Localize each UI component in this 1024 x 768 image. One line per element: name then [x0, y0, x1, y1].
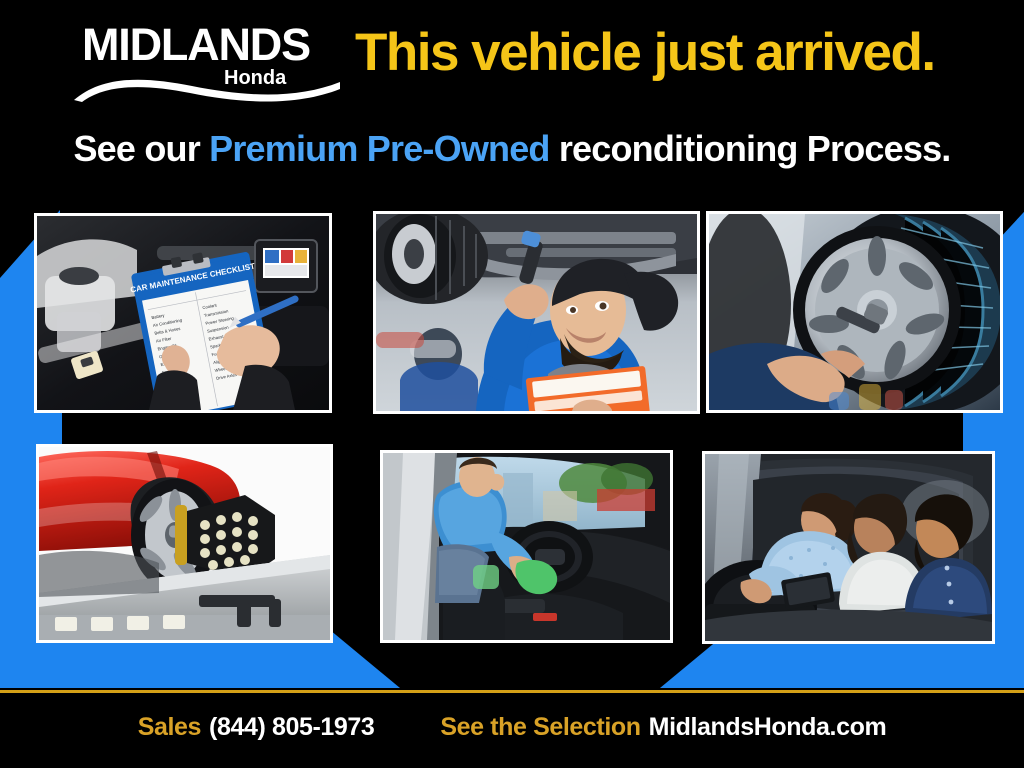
footer-contact-line: Sales(844) 805-1973See the SelectionMidl…	[0, 713, 1024, 742]
selection-label: See the Selection	[440, 713, 640, 741]
page-title: This vehicle just arrived.	[355, 24, 935, 82]
vehicle-arrival-ad: MIDLANDS Honda This vehicle just arrived…	[0, 0, 1024, 768]
photo-undercarriage-inspection	[373, 211, 700, 414]
photo-inspection-checklist: CAR MAINTENANCE CHECKLIST BatteryAir Con…	[34, 213, 332, 413]
ad-footer: Sales(844) 805-1973See the SelectionMidl…	[0, 693, 1024, 768]
sub-headline-pre: See our	[73, 128, 209, 169]
logo-wordmark: MIDLANDS	[82, 22, 310, 68]
photo-customer-delivery	[702, 451, 995, 644]
sales-phone[interactable]: (844) 805-1973	[209, 713, 374, 741]
sub-headline-accent: Premium Pre-Owned	[209, 128, 550, 169]
ad-header: MIDLANDS Honda This vehicle just arrived…	[0, 0, 1024, 200]
sub-headline: See our Premium Pre-Owned reconditioning…	[0, 128, 1024, 170]
photo-wheel-alignment	[36, 444, 333, 643]
website-link[interactable]: MidlandsHonda.com	[649, 713, 887, 741]
midlands-honda-logo: MIDLANDS Honda	[72, 22, 342, 98]
swoosh-icon	[72, 70, 342, 102]
sales-label: Sales	[138, 713, 201, 741]
sub-headline-post: reconditioning Process.	[550, 128, 951, 169]
photo-interior-detail	[380, 450, 673, 643]
photo-wheel-tire-service	[706, 211, 1003, 413]
